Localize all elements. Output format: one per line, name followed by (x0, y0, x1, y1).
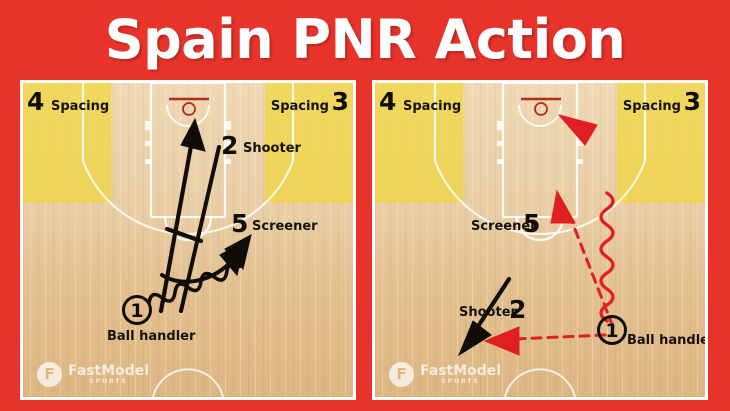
fastmodel-wordmark: FastModel (68, 364, 149, 379)
fastmodel-mark-letter: F (44, 367, 54, 382)
fastmodel-mark-icon: F (389, 362, 414, 387)
court-markings-right (375, 83, 705, 397)
fastmodel-subtext: SPORTS (420, 379, 501, 385)
action-diagram-panel: 4 Spacing 3 Spacing Screener 5 Shooter 2… (372, 80, 708, 400)
court-markings-left (23, 83, 353, 397)
setup-diagram-panel: 4 Spacing 3 Spacing 2 Shooter 5 Screener… (20, 80, 356, 400)
fastmodel-logo-left: F FastModel SPORTS (37, 362, 149, 387)
player-role-1: Ball handler (107, 329, 195, 344)
basketball-court-right: 4 Spacing 3 Spacing Screener 5 Shooter 2… (375, 83, 705, 397)
fastmodel-mark-icon: F (37, 362, 62, 387)
player-marker-1: 1 (597, 315, 627, 345)
player-number-2: 2 (509, 295, 526, 324)
player-role-2: Shooter (243, 141, 301, 156)
page-title: Spain PNR Action (0, 4, 730, 76)
player-number-3: 3 (684, 87, 701, 116)
player-role-1: Ball handler (627, 333, 705, 348)
player-role-4: Spacing (51, 99, 109, 114)
player-number-2: 2 (221, 131, 238, 160)
player-number-3: 3 (332, 87, 349, 116)
fastmodel-mark-letter: F (396, 367, 406, 382)
player-number-4: 4 (379, 87, 396, 116)
player-number-4: 4 (27, 87, 44, 116)
basketball-court-left: 4 Spacing 3 Spacing 2 Shooter 5 Screener… (23, 83, 353, 397)
play-diagram-graphic: Spain PNR Action (0, 0, 730, 411)
fastmodel-subtext: SPORTS (68, 379, 149, 385)
pass-arrow-to-player-2 (485, 327, 605, 355)
player-number-5: 5 (523, 209, 540, 238)
fastmodel-wordmark: FastModel (420, 364, 501, 379)
player-role-3: Spacing (271, 99, 329, 114)
player-role-5: Screener (252, 219, 318, 234)
player-role-4: Spacing (403, 99, 461, 114)
player-number-5: 5 (231, 209, 248, 238)
player-marker-1: 1 (122, 295, 152, 325)
fastmodel-logo-right: F FastModel SPORTS (389, 362, 501, 387)
player-role-3: Spacing (623, 99, 681, 114)
